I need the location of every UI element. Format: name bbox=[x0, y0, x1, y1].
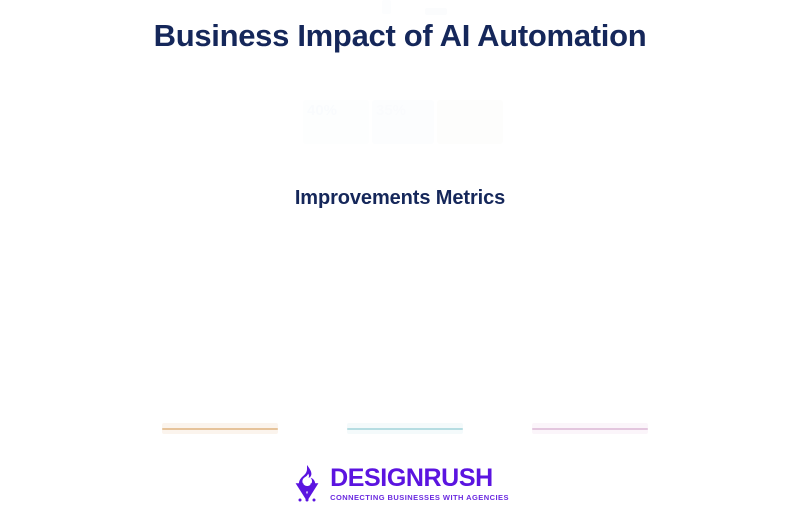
metric-bar-fill bbox=[347, 428, 463, 430]
logo-lockup[interactable]: DESIGNRUSH CONNECTING BUSINESSES WITH AG… bbox=[291, 463, 509, 503]
metric-cards-area bbox=[0, 228, 800, 418]
kpi-placeholder: 35% bbox=[372, 100, 434, 144]
metric-bar-fill bbox=[162, 428, 278, 430]
page-title: Business Impact of AI Automation bbox=[0, 16, 800, 56]
top-ghost-row bbox=[0, 0, 800, 16]
metric-bar-item bbox=[347, 418, 463, 440]
footer-logo[interactable]: DESIGNRUSH CONNECTING BUSINESSES WITH AG… bbox=[0, 458, 800, 508]
metric-bar-row bbox=[0, 418, 800, 440]
infographic-canvas: Business Impact of AI Automation 40% 35%… bbox=[0, 0, 800, 514]
designrush-flame-icon bbox=[291, 463, 323, 503]
top-ghost-mark-2 bbox=[425, 8, 447, 15]
kpi-placeholder: 40% bbox=[303, 100, 369, 144]
kpi-placeholder-value: 35% bbox=[376, 102, 406, 119]
designrush-wordmark: DESIGNRUSH bbox=[330, 465, 493, 491]
metric-bar-item bbox=[162, 418, 278, 440]
section-heading: Improvements Metrics bbox=[0, 184, 800, 212]
logo-text-block: DESIGNRUSH CONNECTING BUSINESSES WITH AG… bbox=[330, 465, 509, 502]
metric-bar-item bbox=[532, 418, 648, 440]
metric-bar-fill bbox=[532, 428, 648, 430]
designrush-tagline: CONNECTING BUSINESSES WITH AGENCIES bbox=[330, 493, 509, 502]
kpi-placeholder-row: 40% 35% bbox=[0, 100, 800, 144]
kpi-placeholder bbox=[437, 100, 503, 144]
kpi-placeholder-value: 40% bbox=[307, 102, 337, 119]
top-ghost-mark-1 bbox=[382, 0, 391, 14]
